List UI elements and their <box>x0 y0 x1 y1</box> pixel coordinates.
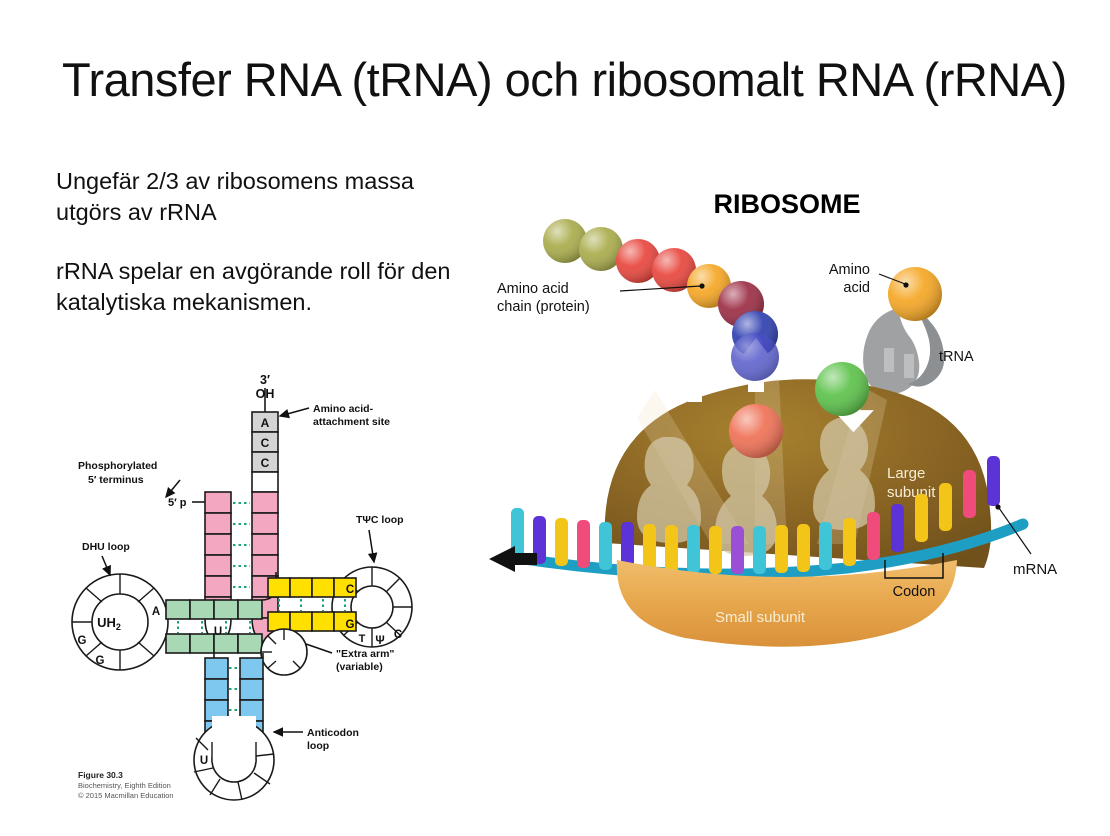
base-c1-tpsic: C <box>346 584 354 596</box>
label-codon: Codon <box>893 584 936 600</box>
figure-number: Figure 30.3 <box>78 770 174 781</box>
base-c1-acceptor: C <box>261 436 270 450</box>
label-trna: tRNA <box>939 349 974 365</box>
figure-caption: Figure 30.3 Biochemistry, Eighth Edition… <box>78 770 174 801</box>
ribosome-figure: RIBOSOME Amino acid chain (protein) <box>487 178 1097 668</box>
label-extra-arm-line1: "Extra arm" <box>336 648 394 660</box>
base-a-acceptor: A <box>261 416 270 430</box>
paragraph-1: Ungefär 2/3 av ribosomens massa utgörs a… <box>56 166 456 228</box>
label-amino-acid-chain-line2: chain (protein) <box>497 299 590 315</box>
base-t-tpsic: T <box>359 633 366 645</box>
label-anticodon-loop-line2: loop <box>307 740 329 752</box>
base-u-acceptor: U <box>214 626 222 638</box>
label-oh: OH <box>256 387 275 401</box>
trna-cloverleaf-figure: 3′ OH Amino acid- attachment site Phosph… <box>62 372 492 817</box>
label-3-prime: 3′ <box>260 373 270 387</box>
figure-source: Biochemistry, Eighth Edition <box>78 781 174 791</box>
slide-canvas: Transfer RNA (tRNA) och ribosomalt RNA (… <box>0 0 1110 836</box>
label-amino-acid-attachment-line1: Amino acid- <box>313 403 374 415</box>
label-tpsic-loop: TΨC loop <box>356 514 404 526</box>
label-anticodon-loop-line1: Anticodon <box>307 727 359 739</box>
label-5prime-p: 5′ p <box>168 497 187 509</box>
label-mrna: mRNA <box>1013 561 1057 578</box>
acceptor-stem-5prime <box>205 492 231 618</box>
label-dhu-loop: DHU loop <box>82 541 130 553</box>
base-psi-tpsic: Ψ <box>375 635 384 647</box>
label-phosphorylated: Phosphorylated <box>78 460 157 472</box>
arrow-up-left <box>681 356 709 402</box>
label-small-subunit: Small subunit <box>715 609 806 626</box>
label-extra-arm-line2: (variable) <box>336 661 383 673</box>
mrna-direction-arrow <box>489 546 537 572</box>
base-c2-tpsic: C <box>394 629 402 641</box>
extra-arm-loop <box>261 629 307 675</box>
paragraph-2: rRNA spelar en avgörande roll för den ka… <box>56 256 456 318</box>
label-amino-acid-line1: Amino <box>829 262 870 278</box>
page-title: Transfer RNA (tRNA) och ribosomalt RNA (… <box>62 52 1022 107</box>
label-amino-acid-line2: acid <box>843 280 870 296</box>
figure-copyright: © 2015 Macmillan Education <box>78 791 174 801</box>
label-5prime-terminus: 5′ terminus <box>88 474 144 486</box>
base-c2-acceptor: C <box>261 456 270 470</box>
base-g2-dhu: G <box>96 655 105 667</box>
label-amino-acid-attachment-line2: attachment site <box>313 416 390 428</box>
base-u-anticodon: U <box>200 755 208 767</box>
body-text-block: Ungefär 2/3 av ribosomens massa utgörs a… <box>56 166 456 346</box>
base-g1-dhu: G <box>78 635 87 647</box>
base-a-dhu: A <box>152 606 160 618</box>
label-large-subunit-line1: Large <box>887 465 925 482</box>
label-amino-acid-chain-line1: Amino acid <box>497 281 569 297</box>
acceptor-hbonds <box>233 503 250 608</box>
base-g-tpsic: G <box>346 619 355 631</box>
label-large-subunit-line2: subunit <box>887 484 936 501</box>
ribosome-title: RIBOSOME <box>713 189 860 219</box>
